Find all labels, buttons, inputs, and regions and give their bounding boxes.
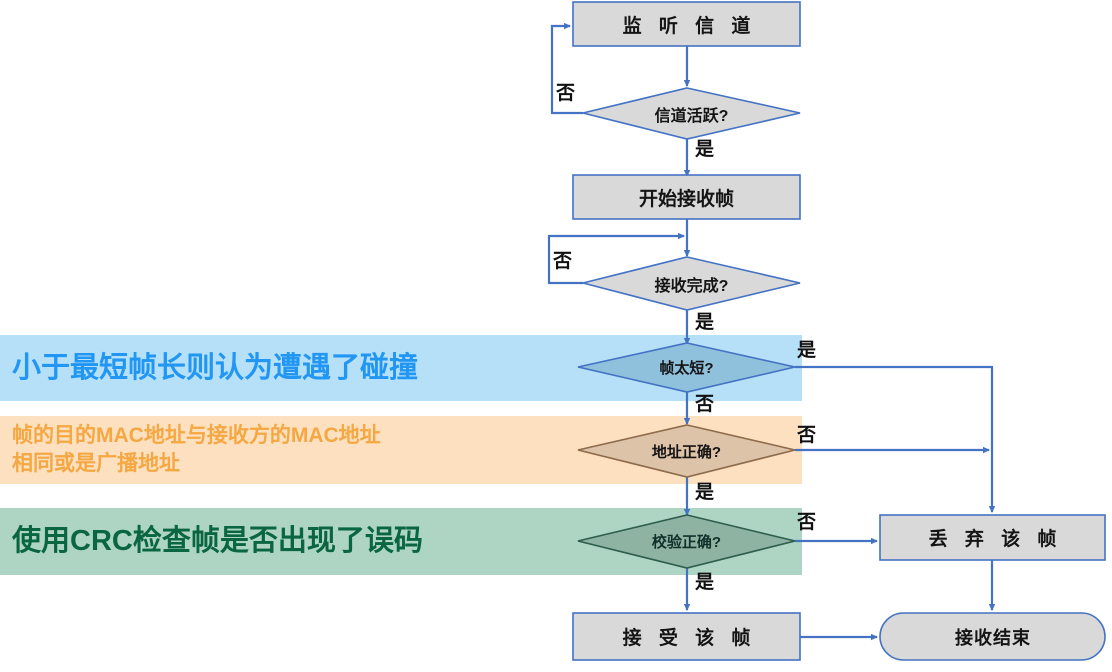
node-start-receive[interactable] — [573, 175, 800, 219]
edge-tooshort-yes — [795, 367, 992, 512]
flowchart-canvas: 小于最短帧长则认为遭遇了碰撞 帧的目的MAC地址与接收方的MAC地址 相同或是广… — [0, 0, 1112, 672]
flow-connectors — [0, 0, 1112, 672]
node-channel-active[interactable] — [583, 88, 800, 139]
node-listen-channel[interactable] — [573, 2, 800, 46]
node-crc-ok[interactable] — [578, 515, 795, 568]
node-receive-done[interactable] — [583, 257, 800, 310]
node-accept-frame[interactable] — [573, 613, 800, 660]
node-receive-end[interactable] — [880, 613, 1105, 660]
node-discard-frame[interactable] — [880, 515, 1105, 560]
node-address-ok[interactable] — [578, 425, 795, 477]
node-frame-too-short[interactable] — [578, 343, 795, 392]
